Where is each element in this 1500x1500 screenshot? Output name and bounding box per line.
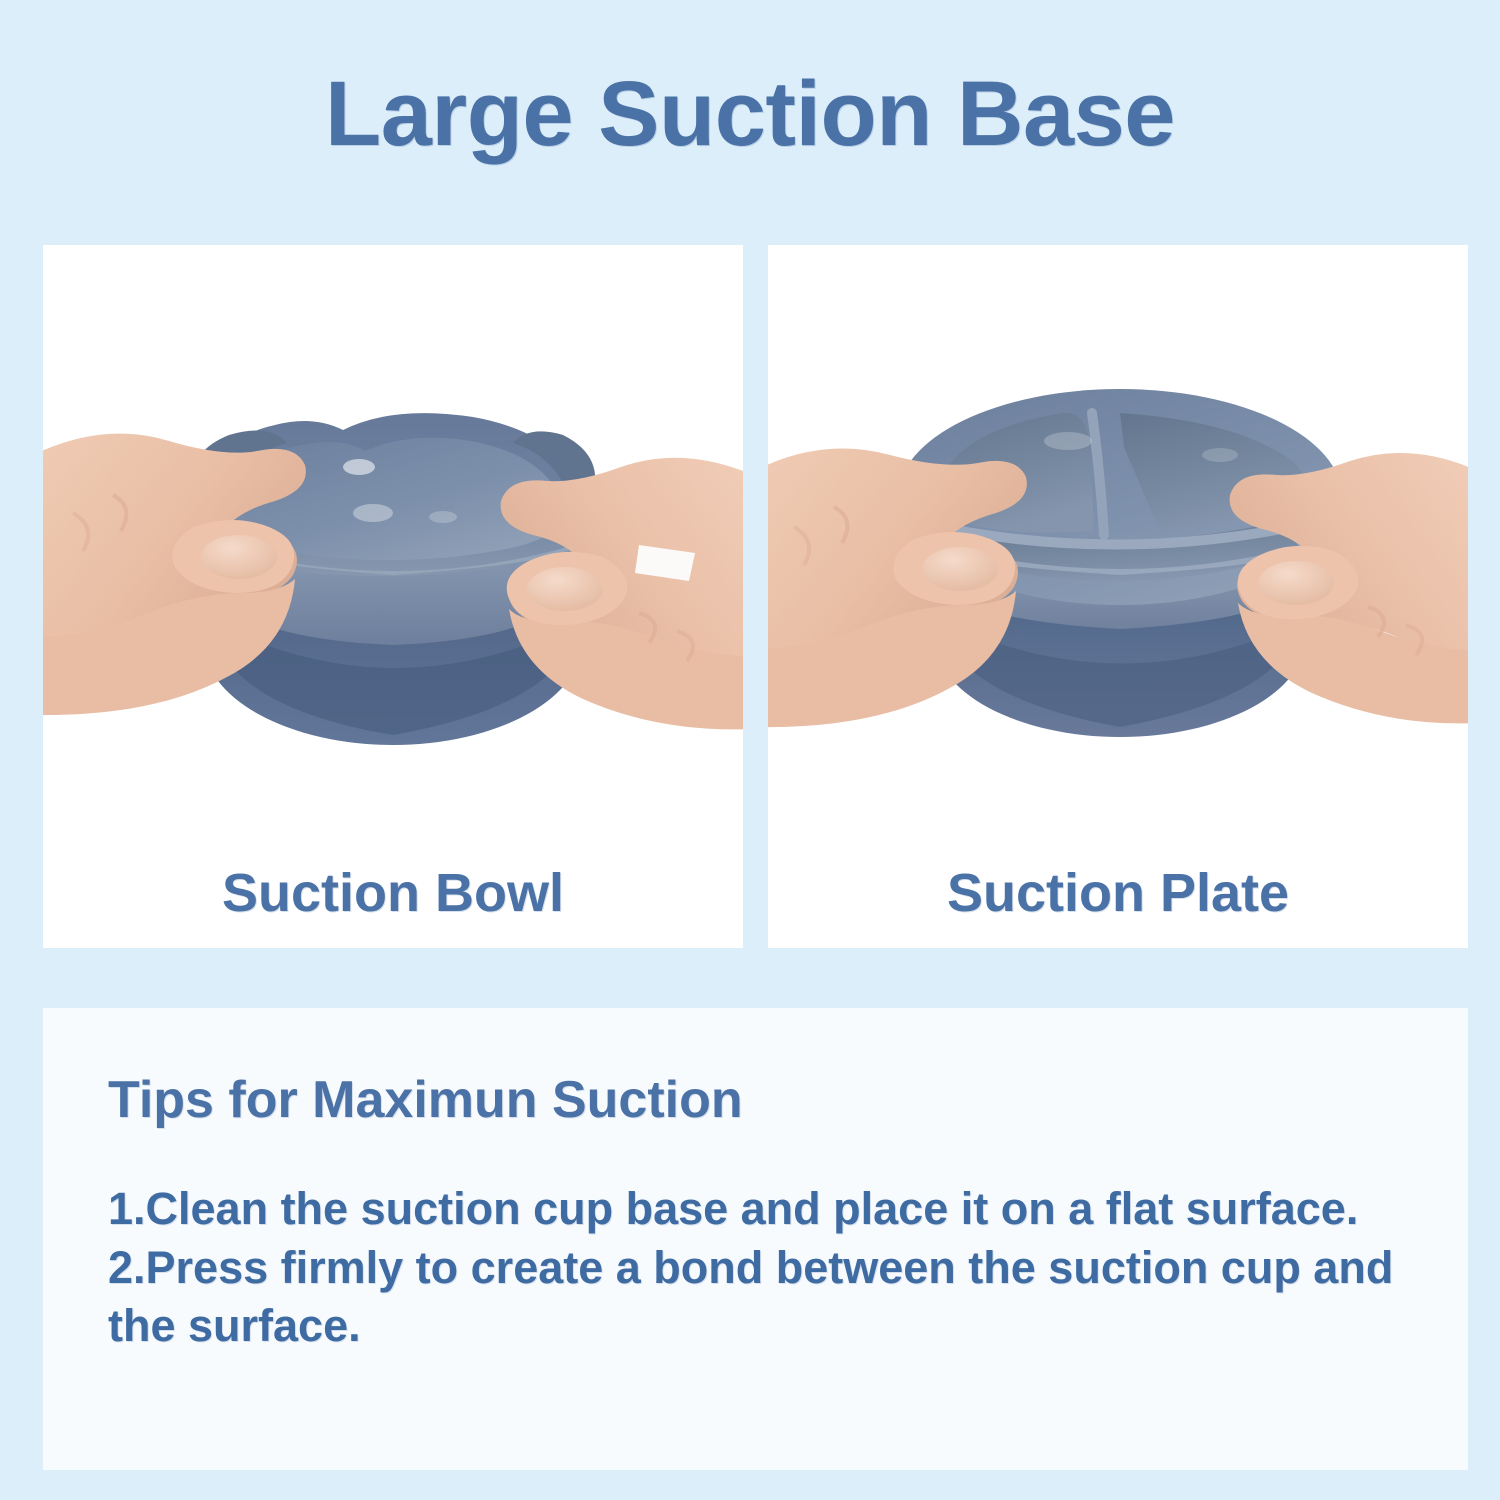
tips-card: Tips for Maximun Suction 1.Clean the suc… bbox=[43, 1008, 1468, 1470]
panel-caption-suction-plate: Suction Plate bbox=[768, 862, 1468, 924]
tips-list: 1.Clean the suction cup base and place i… bbox=[108, 1180, 1438, 1356]
panel-caption-suction-bowl: Suction Bowl bbox=[43, 862, 743, 924]
page-title: Large Suction Base bbox=[0, 68, 1500, 160]
tip-item-2: 2.Press firmly to create a bond between … bbox=[108, 1239, 1438, 1356]
suction-bowl-photo bbox=[43, 245, 743, 885]
tip-item-1: 1.Clean the suction cup base and place i… bbox=[108, 1180, 1438, 1239]
product-panels: Suction Bowl bbox=[43, 245, 1468, 948]
suction-bowl-illustration bbox=[43, 245, 743, 885]
suction-plate-illustration bbox=[768, 245, 1468, 885]
tips-heading: Tips for Maximun Suction bbox=[108, 1070, 743, 1130]
panel-suction-bowl: Suction Bowl bbox=[43, 245, 743, 948]
infographic-page: Large Suction Base bbox=[0, 0, 1500, 1500]
suction-plate-photo bbox=[768, 245, 1468, 885]
panel-suction-plate: Suction Plate bbox=[768, 245, 1468, 948]
